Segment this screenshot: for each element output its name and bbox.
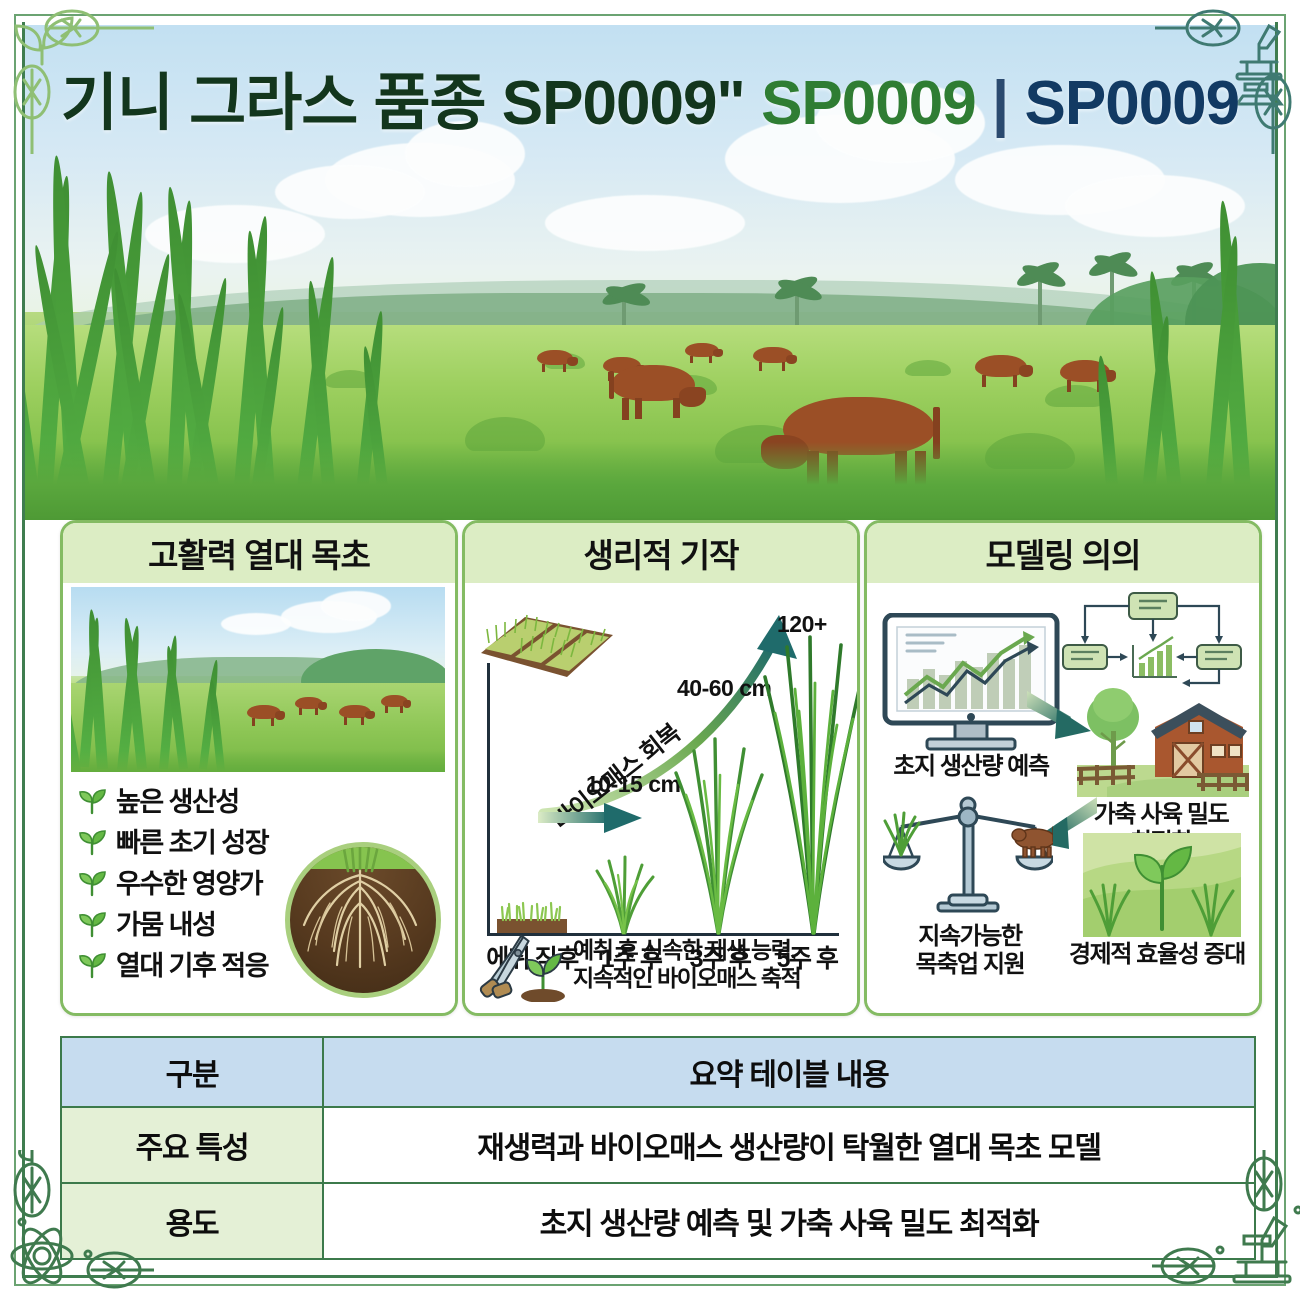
- panel3-title: 모델링 의의: [986, 529, 1141, 577]
- caption-sustainable-livestock: 지속가능한 목축업 지원: [875, 923, 1065, 980]
- table-row: 주요 특성 재생력과 바이오매스 생산량이 탁월한 열대 목초 모델: [61, 1107, 1255, 1183]
- panel1-header: 고활력 열대 목초: [63, 523, 455, 583]
- frame-outer-left: [14, 14, 16, 1286]
- panel-high-vigor-tropical-grass: 고활력 열대 목초: [60, 520, 458, 1016]
- list-item-label: 높은 생산성: [116, 780, 239, 819]
- caption-line1: 지속가능한: [875, 923, 1065, 951]
- panel2-body: 바이오매스 회복 10-15 cm 40-60 cm 120+: [465, 583, 857, 1010]
- panel2-footer: 예취 후 신속한 재생 능력, 지속적인 바이오매스 축적: [475, 926, 847, 1002]
- panel-physiological-mechanism: 생리적 기작: [462, 520, 860, 1016]
- title-separator: |: [976, 69, 1025, 138]
- pasture-thumbnail: [71, 587, 445, 772]
- cow: [537, 350, 577, 372]
- list-item-label: 우수한 영양가: [116, 862, 262, 901]
- table-row-label: 주요 특성: [61, 1107, 323, 1183]
- frame-outer-top: [14, 14, 1286, 16]
- caption-yield-prediction: 초지 생산량 예측: [871, 753, 1071, 781]
- feature-list: 높은 생산성 빠른 초기 성장 우수한 영양: [75, 779, 268, 984]
- cow: [753, 347, 797, 371]
- cloud: [1065, 175, 1245, 237]
- frame-outer-bottom: [14, 1284, 1286, 1286]
- cloud: [275, 165, 425, 219]
- sprout-icon: [75, 908, 109, 938]
- foreground-grass: [25, 442, 1275, 520]
- list-item-label: 가뭄 내성: [116, 903, 215, 942]
- sprout-icon: [75, 785, 109, 815]
- y-axis: [487, 663, 490, 935]
- title-korean: 기니 그라스 품종 SP0009": [61, 69, 761, 138]
- panel1-title: 고활력 열대 목초: [148, 529, 370, 577]
- sprout-icon: [75, 949, 109, 979]
- list-item: 높은 생산성: [75, 779, 268, 820]
- grass-clump-week5: [761, 633, 860, 935]
- list-item: 우수한 영양가: [75, 861, 268, 902]
- panel2-footer-line1: 예취 후 신속한 재생 능력,: [573, 936, 800, 964]
- panel3-header: 모델링 의의: [867, 523, 1259, 583]
- title-variety-navy: SP0009: [1025, 69, 1240, 138]
- table-header-col1: 구분: [61, 1037, 323, 1107]
- value-label-week1: 10-15 cm: [586, 771, 680, 798]
- shears-sprout-icon: [475, 926, 567, 1002]
- panel-modeling-significance: 모델링 의의: [864, 520, 1262, 1016]
- cow: [611, 365, 707, 421]
- list-item-label: 빠른 초기 성장: [116, 821, 268, 860]
- table-row-value: 재생력과 바이오매스 생산량이 탁월한 열대 목초 모델: [323, 1107, 1255, 1183]
- cow: [247, 705, 285, 727]
- frame-inner-bottom: [22, 1275, 1278, 1278]
- caption-line2: 목축업 지원: [875, 951, 1065, 979]
- root-system-image: [285, 842, 441, 998]
- frame-inner-right: [1275, 22, 1278, 1278]
- sprout-icon: [75, 867, 109, 897]
- frame-inner-left: [22, 22, 25, 1278]
- cloud: [545, 195, 745, 251]
- flowchart-icon: [1057, 589, 1247, 699]
- panel2-title: 생리적 기작: [584, 529, 739, 577]
- summary-table: 구분 요약 테이블 내용 주요 특성 재생력과 바이오매스 생산량이 탁월한 열…: [60, 1036, 1256, 1260]
- farm-barn-icon: [1077, 687, 1249, 799]
- table-row: 용도 초지 생산량 예측 및 가축 사육 밀도 최적화: [61, 1183, 1255, 1259]
- growth-arrow-icon: [538, 801, 644, 835]
- balance-scale-icon: [883, 795, 1053, 925]
- grass-clump-week1: [587, 841, 661, 935]
- table-header-row: 구분 요약 테이블 내용: [61, 1037, 1255, 1107]
- table-row-value: 초지 생산량 예측 및 가축 사육 밀도 최적화: [323, 1183, 1255, 1259]
- panel3-body: 초지 생산량 예측: [867, 583, 1259, 1010]
- panel1-body: 높은 생산성 빠른 초기 성장 우수한 영양: [63, 583, 455, 1010]
- cow: [685, 343, 723, 363]
- cow: [339, 705, 375, 725]
- list-item: 가뭄 내성: [75, 902, 268, 943]
- cow: [975, 355, 1033, 387]
- page-title: 기니 그라스 품종 SP0009" SP0009 | SP0009: [0, 52, 1300, 142]
- infographic-root: 기니 그라스 품종 SP0009" SP0009 | SP0009 고활력 열대…: [0, 0, 1300, 1300]
- grass-clump-week3: [670, 733, 766, 935]
- panel2-header: 생리적 기작: [465, 523, 857, 583]
- caption-economic-efficiency: 경제적 효율성 증대: [1057, 941, 1257, 969]
- table-header-col2: 요약 테이블 내용: [323, 1037, 1255, 1107]
- cow: [381, 695, 411, 713]
- title-variety-green: SP0009: [761, 69, 976, 138]
- frame-outer-right: [1284, 14, 1286, 1286]
- list-item-label: 열대 기후 적응: [116, 944, 268, 983]
- table-row-label: 용도: [61, 1183, 323, 1259]
- sprout-icon: [75, 826, 109, 856]
- list-item: 열대 기후 적응: [75, 943, 268, 984]
- panel2-footer-line2: 지속적인 바이오매스 축적: [573, 964, 800, 992]
- list-item: 빠른 초기 성장: [75, 820, 268, 861]
- roots-illustration: [290, 847, 430, 987]
- green-field-icon: [1083, 833, 1241, 937]
- value-label-week3: 40-60 cm: [677, 675, 771, 702]
- cow: [295, 697, 327, 715]
